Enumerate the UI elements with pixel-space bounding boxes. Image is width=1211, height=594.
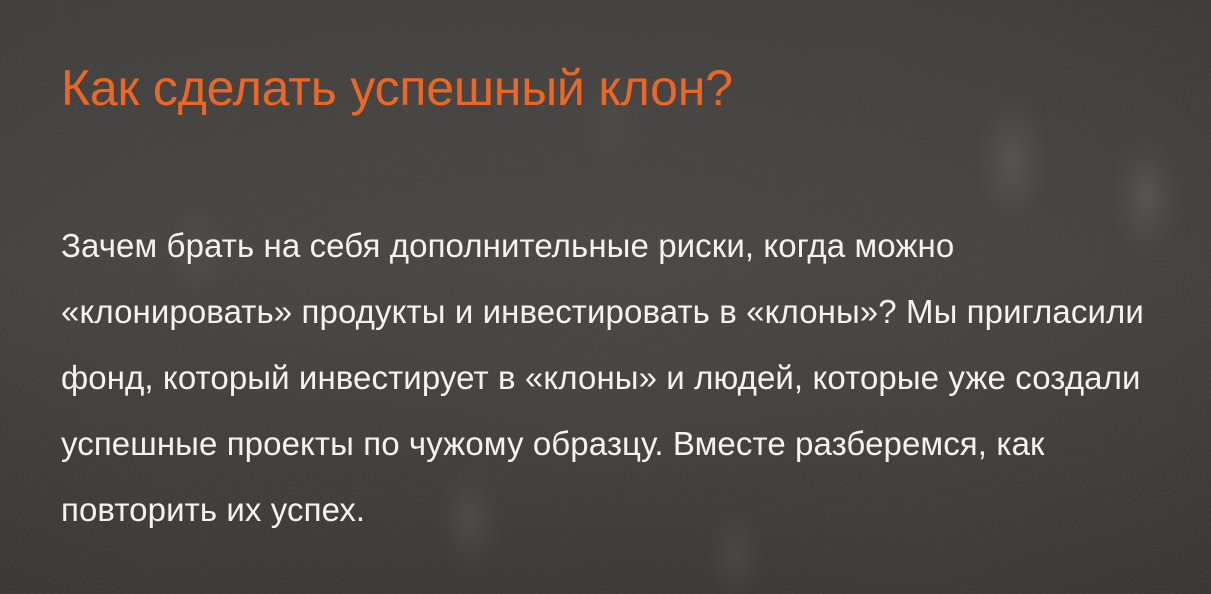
- hero-banner: Как сделать успешный клон? Зачем брать н…: [0, 0, 1211, 594]
- hero-description: Зачем брать на себя дополнительные риски…: [61, 213, 1159, 543]
- hero-content: Как сделать успешный клон? Зачем брать н…: [61, 0, 1161, 594]
- page-title: Как сделать успешный клон?: [61, 59, 733, 117]
